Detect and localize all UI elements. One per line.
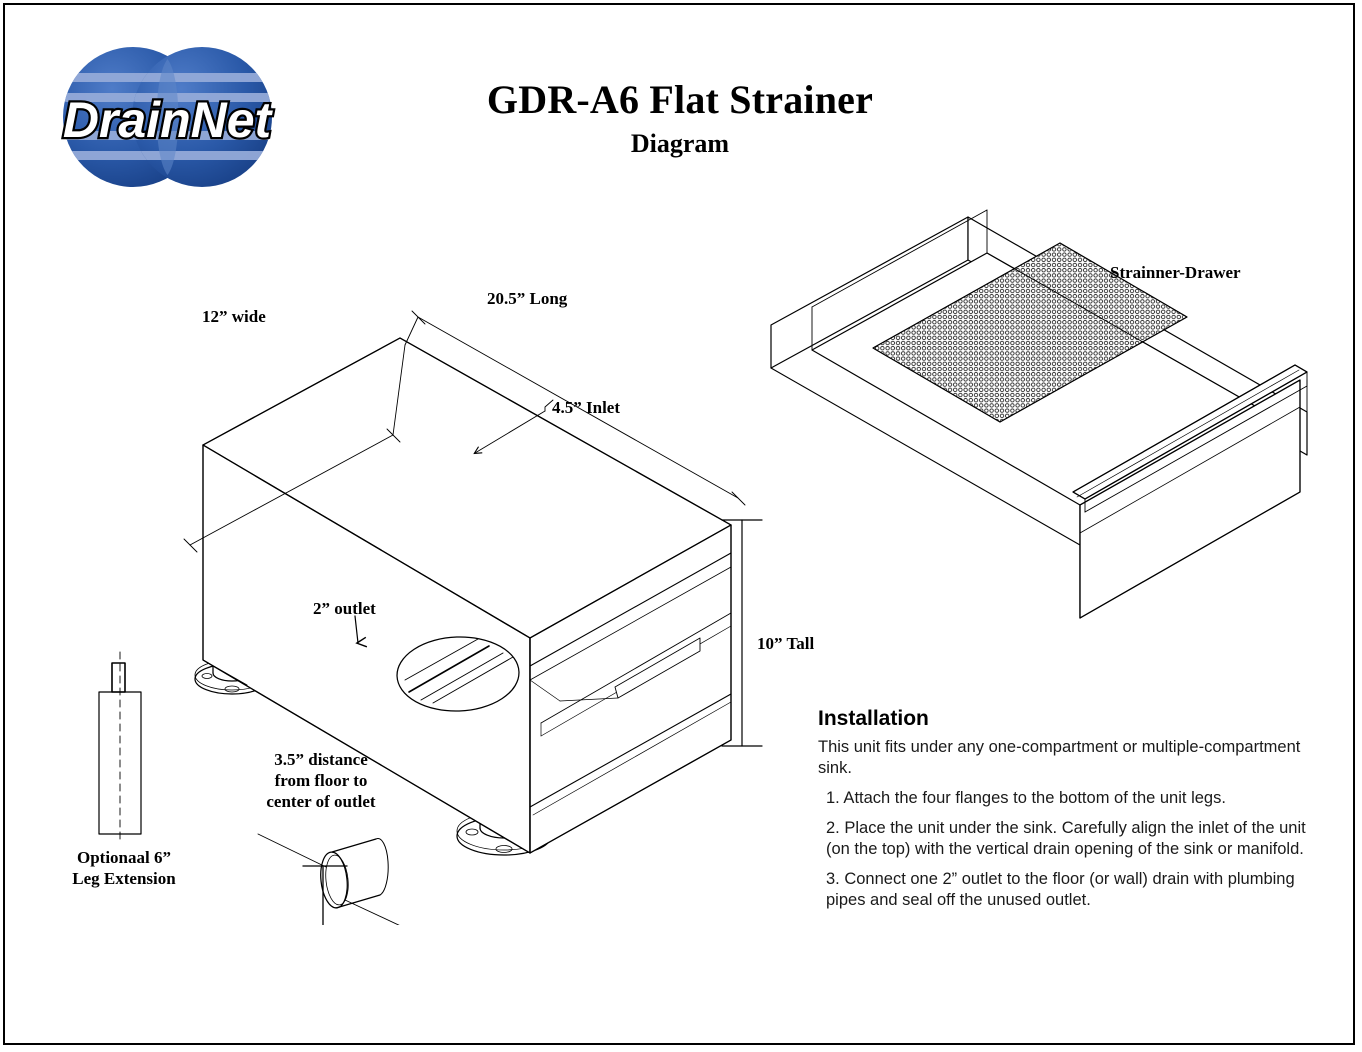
installation-step-1: 1. Attach the four flanges to the bottom… [818, 788, 1308, 809]
label-strainer-drawer: Strainner-Drawer [1110, 262, 1241, 283]
label-outlet-distance-line-1: 3.5” distance [258, 749, 384, 770]
label-leg-extension-line-2: Leg Extension [62, 868, 186, 889]
label-leg-extension-line-1: Optionaal 6” [62, 847, 186, 868]
logo-wordmark: DrainNet [63, 92, 274, 148]
unit-isometric-drawing [0, 195, 810, 925]
leg-extension-drawing [99, 652, 141, 840]
strainer-drawer-drawing [755, 200, 1355, 650]
label-width: 12” wide [202, 306, 266, 327]
unit-outlet-cylinder [258, 829, 420, 925]
installation-section: Installation This unit fits under any on… [818, 707, 1308, 920]
label-outlet-distance-line-3: center of outlet [258, 791, 384, 812]
label-height: 10” Tall [757, 633, 814, 654]
installation-intro: This unit fits under any one-compartment… [818, 737, 1308, 779]
page-title: GDR-A6 Flat Strainer [330, 76, 1030, 123]
installation-heading: Installation [818, 707, 1308, 731]
label-inlet: 4.5” Inlet [552, 397, 620, 418]
installation-step-2: 2. Place the unit under the sink. Carefu… [818, 818, 1308, 860]
label-leg-extension: Optionaal 6” Leg Extension [62, 847, 186, 889]
label-outlet-distance: 3.5” distance from floor to center of ou… [258, 749, 384, 812]
label-outlet: 2” outlet [313, 598, 376, 619]
label-length: 20.5” Long [487, 288, 567, 309]
label-outlet-distance-line-2: from floor to [258, 770, 384, 791]
drainnet-logo: DrainNet [55, 45, 280, 190]
installation-step-3: 3. Connect one 2” outlet to the floor (o… [818, 869, 1308, 911]
page-subtitle: Diagram [330, 129, 1030, 159]
